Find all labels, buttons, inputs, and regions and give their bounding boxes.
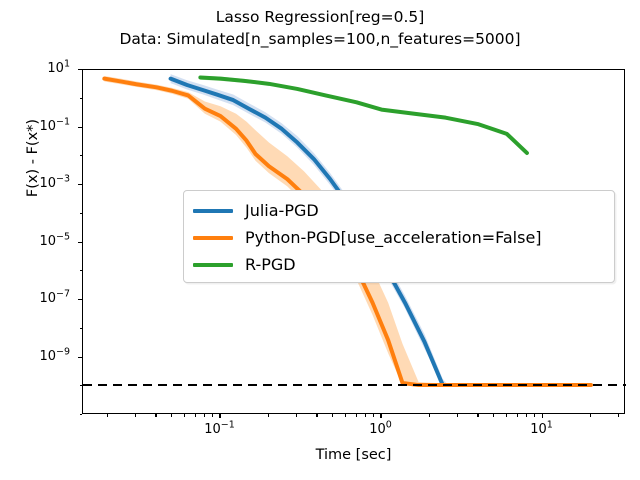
- legend-label-r-pgd: R-PGD: [245, 255, 296, 274]
- x-tick-label-1: 100: [350, 423, 410, 436]
- chart-title: Lasso Regression[reg=0.5] Data: Simulate…: [0, 6, 640, 50]
- y-tick-label-5: 10−9: [8, 350, 70, 363]
- x-tick-label-0: 10−1: [189, 423, 249, 436]
- legend-swatch-julia-pgd: [193, 209, 233, 213]
- y-tick-mark-minor: [80, 414, 83, 415]
- chart-title-line-2: Data: Simulated[n_samples=100,n_features…: [0, 28, 640, 50]
- legend-swatch-python-pgd: [193, 236, 233, 240]
- matplotlib-figure: Lasso Regression[reg=0.5] Data: Simulate…: [0, 0, 640, 480]
- legend-item-2[interactable]: R-PGD: [193, 251, 605, 278]
- y-tick-label-0: 101: [8, 62, 70, 75]
- legend-swatch-r-pgd: [193, 263, 233, 267]
- x-axis-label: Time [sec]: [82, 447, 625, 463]
- y-tick-label-4: 10−7: [8, 292, 70, 305]
- legend-label-julia-pgd: Julia-PGD: [245, 201, 319, 220]
- y-tick-label-3: 10−5: [8, 235, 70, 248]
- chart-legend[interactable]: Julia-PGD Python-PGD[use_acceleration=Fa…: [183, 190, 615, 283]
- legend-item-0[interactable]: Julia-PGD: [193, 197, 605, 224]
- legend-label-python-pgd: Python-PGD[use_acceleration=False]: [245, 228, 542, 247]
- y-tick-label-2: 10−3: [8, 177, 70, 190]
- y-tick-label-1: 10−1: [8, 120, 70, 133]
- x-tick-label-2: 101: [512, 423, 572, 436]
- legend-item-1[interactable]: Python-PGD[use_acceleration=False]: [193, 224, 605, 251]
- chart-title-line-1: Lasso Regression[reg=0.5]: [0, 6, 640, 28]
